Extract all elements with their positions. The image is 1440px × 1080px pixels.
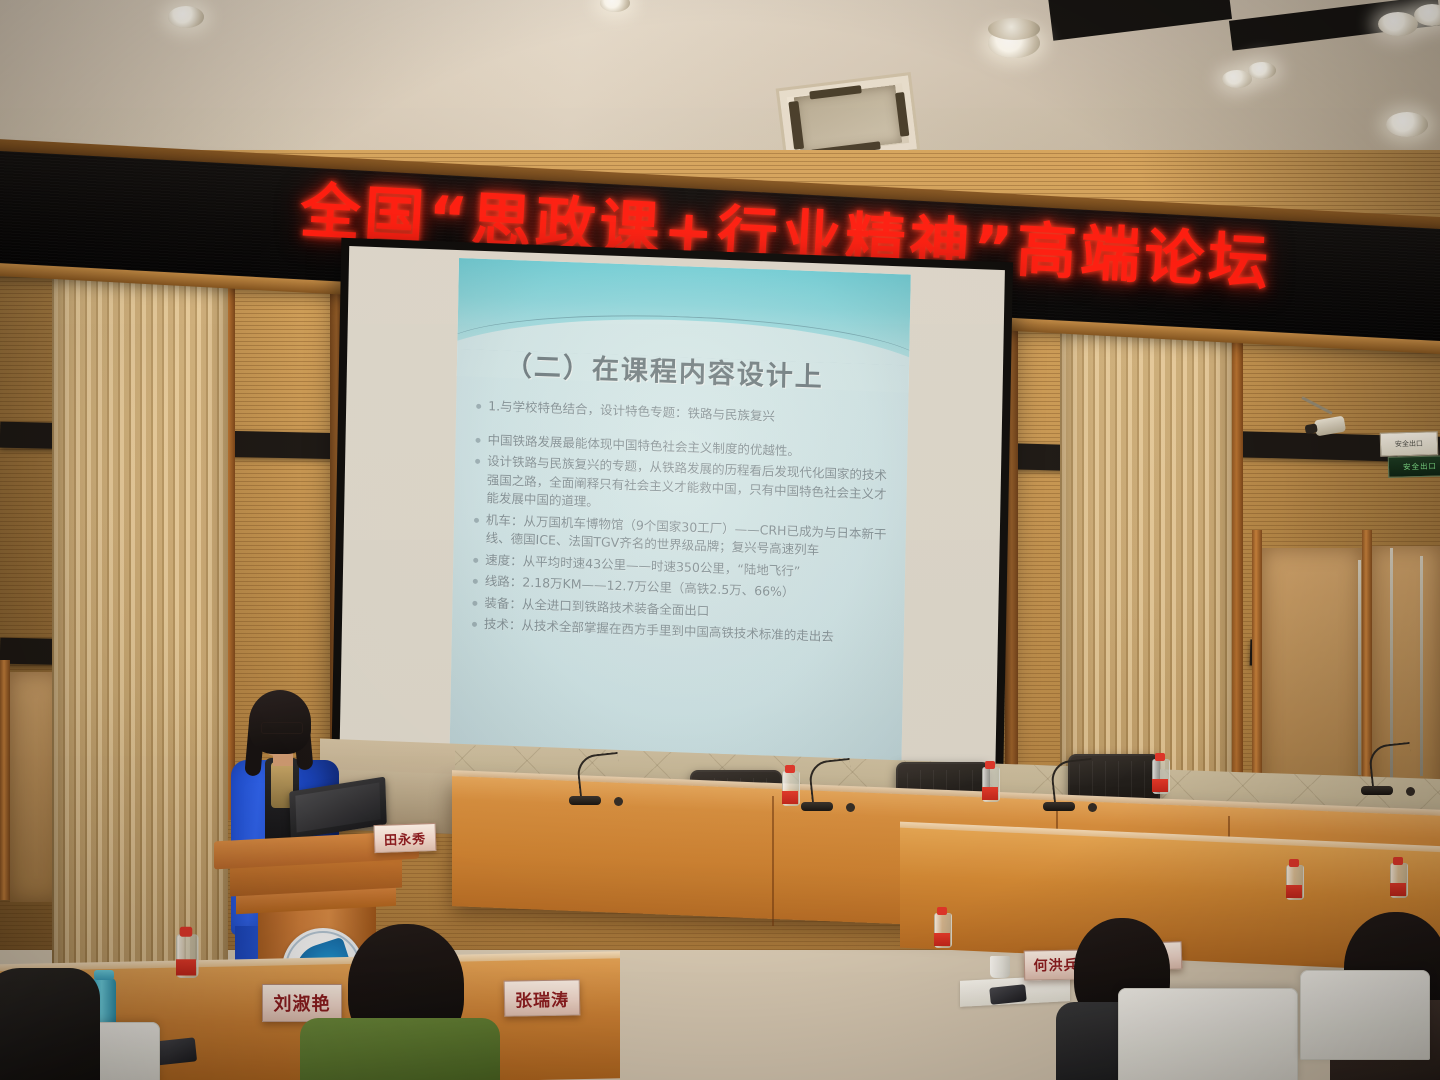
bottle-cap [937, 907, 947, 915]
mic-base [1361, 786, 1393, 795]
bottle-cap [1155, 753, 1165, 761]
ceiling-downlight [168, 6, 204, 28]
audience-body [300, 1018, 500, 1080]
mic-neck [1050, 758, 1097, 808]
decor-pole [1358, 560, 1361, 775]
bullet-dot-icon [472, 600, 477, 605]
emergency-exit-light: 安全出口 [1388, 455, 1440, 478]
mic-base [1043, 802, 1075, 811]
bottle-label [176, 959, 196, 975]
bottle-label [1152, 779, 1168, 792]
bullet-dot-icon [476, 404, 481, 409]
ac-vent-slat [895, 92, 909, 137]
paper-cup [990, 956, 1010, 978]
bottle-cap [1393, 857, 1403, 865]
audience-body-foreground [0, 968, 100, 1080]
mic-neck [1368, 742, 1415, 792]
door-frame-left [0, 660, 10, 900]
nameplate-podium: 田永秀 [374, 823, 437, 853]
chair-cover [1118, 988, 1298, 1080]
decor-pole [1420, 556, 1423, 776]
projection-screen-frame: （二）在课程内容设计上 1.与学校特色结合，设计特色专题：铁路与民族复兴 中国铁… [331, 238, 1013, 808]
bullet-dot-icon [473, 579, 478, 584]
bottle-cap [1289, 859, 1299, 867]
head-table-seam [772, 796, 774, 926]
bottle-label [782, 791, 798, 804]
ceiling-downlight [1248, 62, 1276, 79]
nameplate-front-mid: 张瑞涛 [504, 979, 581, 1016]
exit-sign: 安全出口 [1380, 431, 1439, 457]
bullet-dot-icon [475, 459, 480, 464]
bullet-dot-icon [473, 557, 478, 562]
bottle-cap [180, 927, 193, 937]
bottle-cap [785, 765, 795, 773]
nameplate-front-left: 刘淑艳 [262, 984, 342, 1022]
curtain-left [52, 212, 228, 1002]
projection-screen-surface: （二）在课程内容设计上 1.与学校特色结合，设计特色专题：铁路与民族复兴 中国铁… [339, 246, 1005, 799]
bottle-label [982, 787, 998, 800]
bottle-label [1390, 883, 1406, 896]
mic-capsule [1406, 787, 1415, 796]
curtain-right [1060, 268, 1232, 808]
mic-base [569, 796, 601, 805]
mic-capsule [846, 803, 855, 812]
mic-neck [808, 758, 855, 808]
speaker-glasses [261, 722, 303, 734]
mic-neck [576, 752, 623, 802]
ceiling-downlight [1386, 112, 1428, 137]
presentation-slide: （二）在课程内容设计上 1.与学校特色结合，设计特色专题：铁路与民族复兴 中国铁… [449, 258, 910, 774]
bottle-label [934, 933, 950, 946]
slide-bullet: 1.与学校特色结合，设计特色专题：铁路与民族复兴 [476, 397, 890, 431]
ac-vent-slat [788, 101, 804, 150]
bottle-label [1286, 885, 1302, 898]
mic-capsule [1088, 803, 1097, 812]
chair-cover [1300, 970, 1430, 1060]
ceiling-downlight [1378, 12, 1418, 36]
mic-base [801, 802, 833, 811]
bullet-dot-icon [472, 622, 477, 627]
bullet-text: 1.与学校特色结合，设计特色专题：铁路与民族复兴 [488, 397, 890, 430]
bullet-dot-icon [474, 517, 479, 522]
bottle-cap [985, 761, 995, 769]
mic-capsule [614, 797, 623, 806]
conference-photo: 安全出口 安全出口 全国“思政课+行业精神”高端论坛 （二）在课程内容设计上 1… [0, 0, 1440, 1080]
wall-accent-band [222, 431, 343, 460]
bullet-dot-icon [476, 437, 481, 442]
bullet-text: 设计铁路与民族复兴的专题，从铁路发展的历程看后发现代化国家的技术强国之路，全面阐… [486, 452, 889, 522]
thermos-lid [94, 970, 114, 980]
ceiling-downlight-ring [988, 18, 1040, 40]
ac-vent-slat [809, 85, 862, 99]
slide-bullet-list: 1.与学校特色结合，设计特色专题：铁路与民族复兴 中国铁路发展最能体现中国特色社… [472, 397, 890, 652]
